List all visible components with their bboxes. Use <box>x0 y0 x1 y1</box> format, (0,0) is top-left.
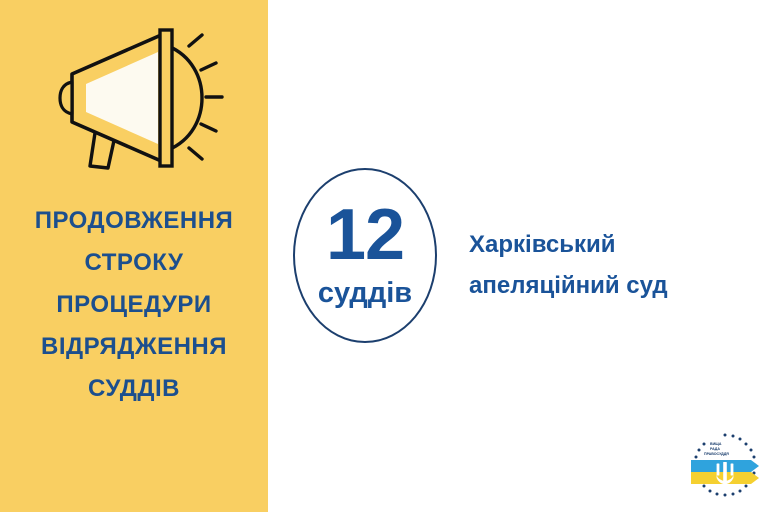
court-name-line-2: апеляційний суд <box>469 265 739 306</box>
judge-count-number: 12 <box>326 202 404 268</box>
court-name: Харківський апеляційний суд <box>469 224 739 306</box>
headline-line-4: ВІДРЯДЖЕННЯ <box>0 326 268 368</box>
emblem-text-line-3: ПРАВОСУДДЯ <box>704 452 729 456</box>
emblem-text-line-2: РАДА <box>710 447 720 451</box>
court-name-line-1: Харківський <box>469 224 739 265</box>
headline-line-1: ПРОДОВЖЕННЯ <box>0 200 268 242</box>
headline-line-2: СТРОКУ <box>0 242 268 284</box>
headline-line-5: СУДДІВ <box>0 368 268 410</box>
megaphone-icon <box>56 18 224 178</box>
judge-count-badge: 12 суддів <box>293 168 437 343</box>
page-headline: ПРОДОВЖЕННЯ СТРОКУ ПРОЦЕДУРИ ВІДРЯДЖЕННЯ… <box>0 200 268 410</box>
headline-line-3: ПРОЦЕДУРИ <box>0 284 268 326</box>
judge-count-label: суддів <box>318 276 412 310</box>
vrp-emblem: ВИЩА РАДА ПРАВОСУДДЯ <box>688 430 762 504</box>
emblem-text-line-1: ВИЩА <box>710 442 722 446</box>
infographic-canvas: ПРОДОВЖЕННЯ СТРОКУ ПРОЦЕДУРИ ВІДРЯДЖЕННЯ… <box>0 0 767 512</box>
